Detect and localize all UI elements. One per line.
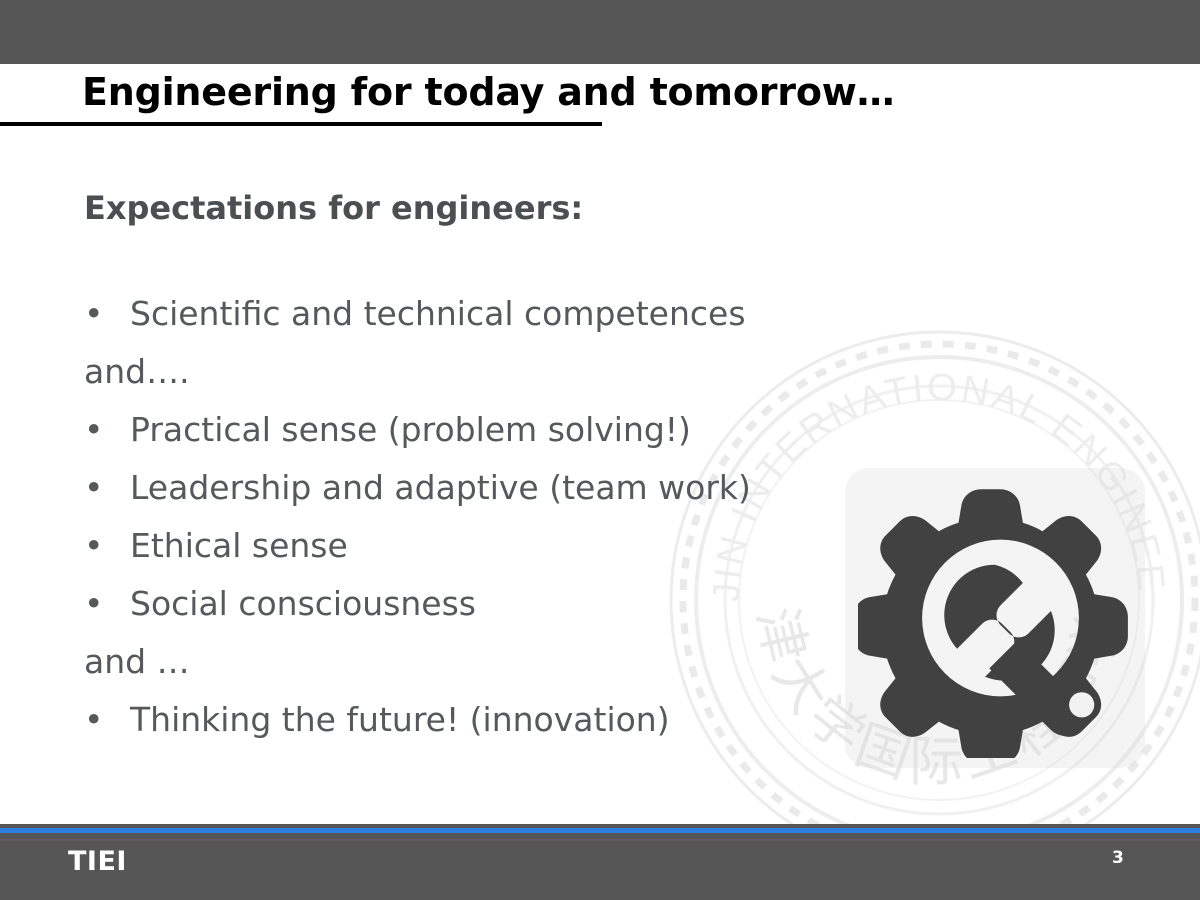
- list-item-label: Practical sense (problem solving!): [130, 401, 691, 459]
- footer-band: [0, 824, 1200, 900]
- bullet-marker: •: [84, 575, 98, 633]
- list-item: •Social consciousness: [0, 575, 1100, 633]
- list-item: and….: [0, 343, 1100, 401]
- list-item-label: and….: [84, 343, 190, 401]
- bullet-marker: •: [84, 691, 98, 749]
- page-number: 3: [1112, 848, 1124, 868]
- bullet-marker: •: [84, 517, 98, 575]
- page-title: Engineering for today and tomorrow…: [82, 70, 894, 114]
- list-item: and …: [0, 633, 1100, 691]
- top-gray-band: [0, 0, 1200, 64]
- bullet-marker: •: [84, 459, 98, 517]
- bullet-marker: •: [84, 401, 98, 459]
- list-item: •Thinking the future! (innovation): [0, 691, 1100, 749]
- title-underline-rule: [0, 122, 602, 126]
- list-item: •Scientific and technical competences: [0, 285, 1100, 343]
- bullet-marker: •: [84, 285, 98, 343]
- list-item: •Practical sense (problem solving!): [0, 401, 1100, 459]
- body-lead-heading: Expectations for engineers:: [84, 189, 583, 227]
- list-item-label: Social consciousness: [130, 575, 476, 633]
- footer-accent-rule: [0, 828, 1200, 833]
- list-item-label: and …: [84, 633, 190, 691]
- list-item-label: Scientific and technical competences: [130, 285, 746, 343]
- footer-label: TIEI: [68, 846, 127, 877]
- list-item-label: Ethical sense: [130, 517, 348, 575]
- list-item-label: Leadership and adaptive (team work): [130, 459, 751, 517]
- footer-secondary-rule: [0, 839, 1200, 841]
- bullet-list: •Scientific and technical competencesand…: [0, 285, 1100, 749]
- slide-canvas: Engineering for today and tomorrow… TIAN…: [0, 0, 1200, 900]
- list-item-label: Thinking the future! (innovation): [130, 691, 670, 749]
- list-item: •Leadership and adaptive (team work): [0, 459, 1100, 517]
- list-item: •Ethical sense: [0, 517, 1100, 575]
